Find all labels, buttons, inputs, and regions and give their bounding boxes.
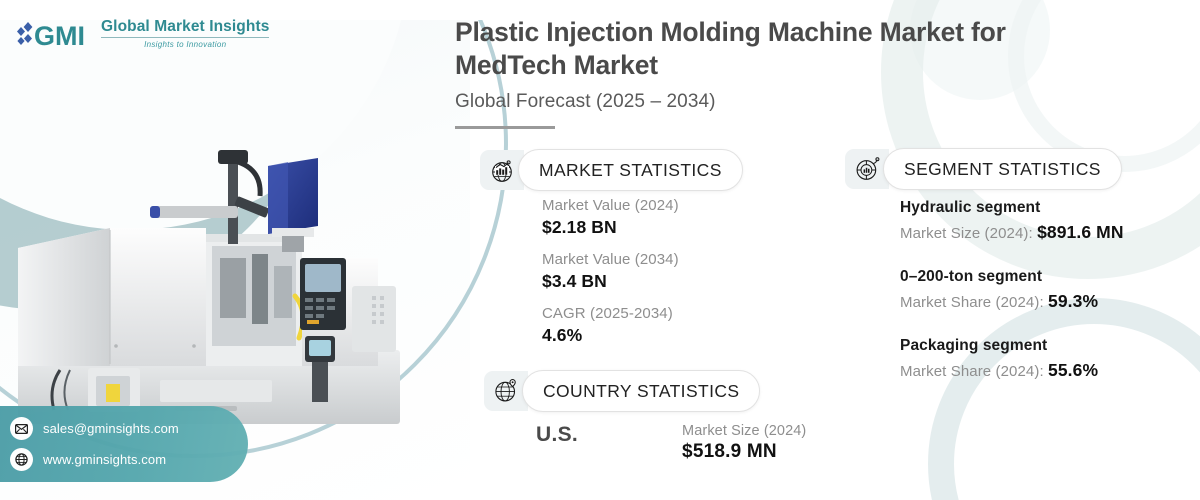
gmi-diamond-logo-icon: GMI bbox=[16, 18, 94, 50]
segment-statistics-pill: SEGMENT STATISTICS bbox=[883, 148, 1122, 190]
market-statistics-header: MARKET STATISTICS bbox=[480, 149, 743, 191]
segment-statistics-header: SEGMENT STATISTICS bbox=[845, 148, 1122, 190]
globe-icon bbox=[10, 448, 33, 471]
segment-name: Hydraulic segment bbox=[900, 196, 1124, 219]
market-stat-label: Market Value (2034) bbox=[542, 250, 679, 270]
market-statistics-pill: MARKET STATISTICS bbox=[518, 149, 743, 191]
market-statistics-label: MARKET STATISTICS bbox=[539, 160, 722, 181]
logo-tagline: Insights to Innovation bbox=[144, 41, 226, 49]
segment-name: Packaging segment bbox=[900, 334, 1124, 357]
segment-metric-line: Market Size (2024): $891.6 MN bbox=[900, 219, 1124, 246]
logo-company-name: Global Market Insights bbox=[101, 19, 269, 35]
market-stat-row: CAGR (2025-2034) 4.6% bbox=[542, 304, 679, 348]
email-text: sales@gminsights.com bbox=[43, 421, 179, 436]
market-stat-row: Market Value (2024) $2.18 BN bbox=[542, 196, 679, 240]
segment-item: Packaging segment Market Share (2024): 5… bbox=[900, 334, 1124, 384]
contact-bar: sales@gminsights.com www.gminsights.com bbox=[0, 406, 248, 482]
segment-item: Hydraulic segment Market Size (2024): $8… bbox=[900, 196, 1124, 246]
market-stat-label: CAGR (2025-2034) bbox=[542, 304, 679, 324]
segment-metric-line: Market Share (2024): 59.3% bbox=[900, 288, 1124, 315]
country-name: U.S. bbox=[536, 423, 578, 447]
hero-machine-image bbox=[0, 118, 452, 448]
market-stat-value: 4.6% bbox=[542, 324, 679, 348]
market-stat-value: $2.18 BN bbox=[542, 216, 679, 240]
segment-metric-value: $891.6 MN bbox=[1037, 222, 1124, 242]
segment-metric-label: Market Share (2024): bbox=[900, 294, 1048, 311]
segment-item: 0–200-ton segment Market Share (2024): 5… bbox=[900, 265, 1124, 315]
segment-metric-label: Market Share (2024): bbox=[900, 363, 1048, 380]
market-stat-row: Market Value (2034) $3.4 BN bbox=[542, 250, 679, 294]
segment-metric-line: Market Share (2024): 55.6% bbox=[900, 357, 1124, 384]
country-statistics-header: COUNTRY STATISTICS bbox=[484, 370, 760, 412]
logo-divider bbox=[101, 37, 269, 38]
segment-statistics-label: SEGMENT STATISTICS bbox=[904, 159, 1101, 180]
country-statistics-label: COUNTRY STATISTICS bbox=[543, 381, 739, 402]
contact-email-row[interactable]: sales@gminsights.com bbox=[10, 417, 248, 440]
segment-metric-label: Market Size (2024): bbox=[900, 225, 1037, 242]
svg-text:GMI: GMI bbox=[34, 21, 85, 50]
country-metric-value: $518.9 MN bbox=[682, 441, 806, 463]
market-statistics-body: Market Value (2024) $2.18 BN Market Valu… bbox=[542, 196, 679, 358]
country-metric: Market Size (2024) $518.9 MN bbox=[682, 423, 806, 463]
infographic-page: sales@gminsights.com www.gminsights.com bbox=[0, 0, 1200, 500]
market-stat-label: Market Value (2024) bbox=[542, 196, 679, 216]
contact-website-row[interactable]: www.gminsights.com bbox=[10, 448, 248, 471]
header-block: Plastic Injection Molding Machine Market… bbox=[455, 16, 1115, 129]
gmi-logo[interactable]: GMI Global Market Insights Insights to I… bbox=[16, 18, 269, 50]
country-metric-label: Market Size (2024) bbox=[682, 423, 806, 439]
envelope-icon bbox=[10, 417, 33, 440]
page-subtitle: Global Forecast (2025 – 2034) bbox=[455, 91, 1115, 113]
website-text: www.gminsights.com bbox=[43, 452, 166, 467]
country-statistics-pill: COUNTRY STATISTICS bbox=[522, 370, 760, 412]
segment-metric-value: 55.6% bbox=[1048, 360, 1098, 380]
segment-metric-value: 59.3% bbox=[1048, 291, 1098, 311]
page-title: Plastic Injection Molding Machine Market… bbox=[455, 16, 1115, 82]
country-statistics-body: U.S. Market Size (2024) $518.9 MN bbox=[536, 423, 806, 463]
header-divider bbox=[455, 126, 555, 129]
segment-name: 0–200-ton segment bbox=[900, 265, 1124, 288]
market-stat-value: $3.4 BN bbox=[542, 270, 679, 294]
segment-statistics-body: Hydraulic segment Market Size (2024): $8… bbox=[900, 196, 1124, 402]
